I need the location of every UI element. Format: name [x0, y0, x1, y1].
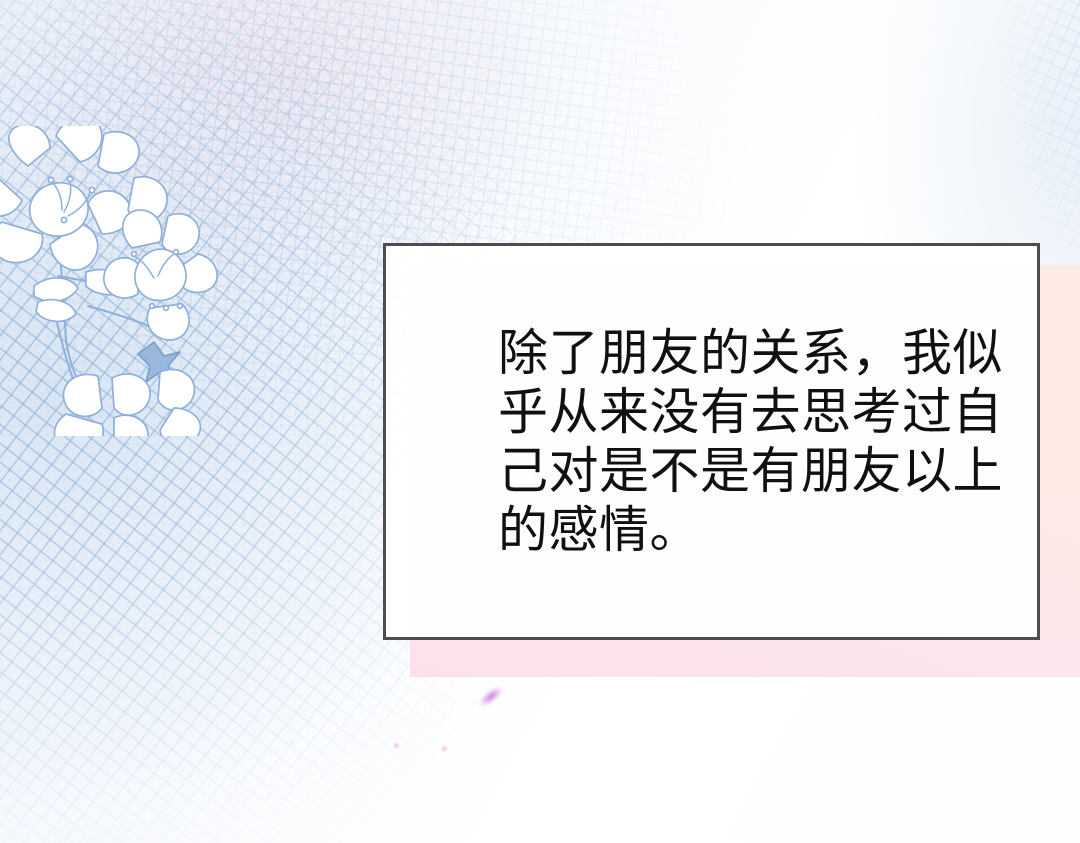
dialogue-box[interactable]: 除了朋友的关系，我似乎从来没有去思考过自己对是不是有朋友以上的感情。	[383, 243, 1040, 640]
petal-speck-left	[393, 742, 400, 749]
dialogue-text: 除了朋友的关系，我似乎从来没有去思考过自己对是不是有朋友以上的感情。	[386, 324, 1037, 560]
petal-speck-right	[441, 745, 448, 752]
cherry-blossom-branch-decor	[0, 126, 238, 436]
comic-panel: 除了朋友的关系，我似乎从来没有去思考过自己对是不是有朋友以上的感情。	[0, 0, 1080, 843]
cherry-blossom-icon	[0, 126, 238, 436]
